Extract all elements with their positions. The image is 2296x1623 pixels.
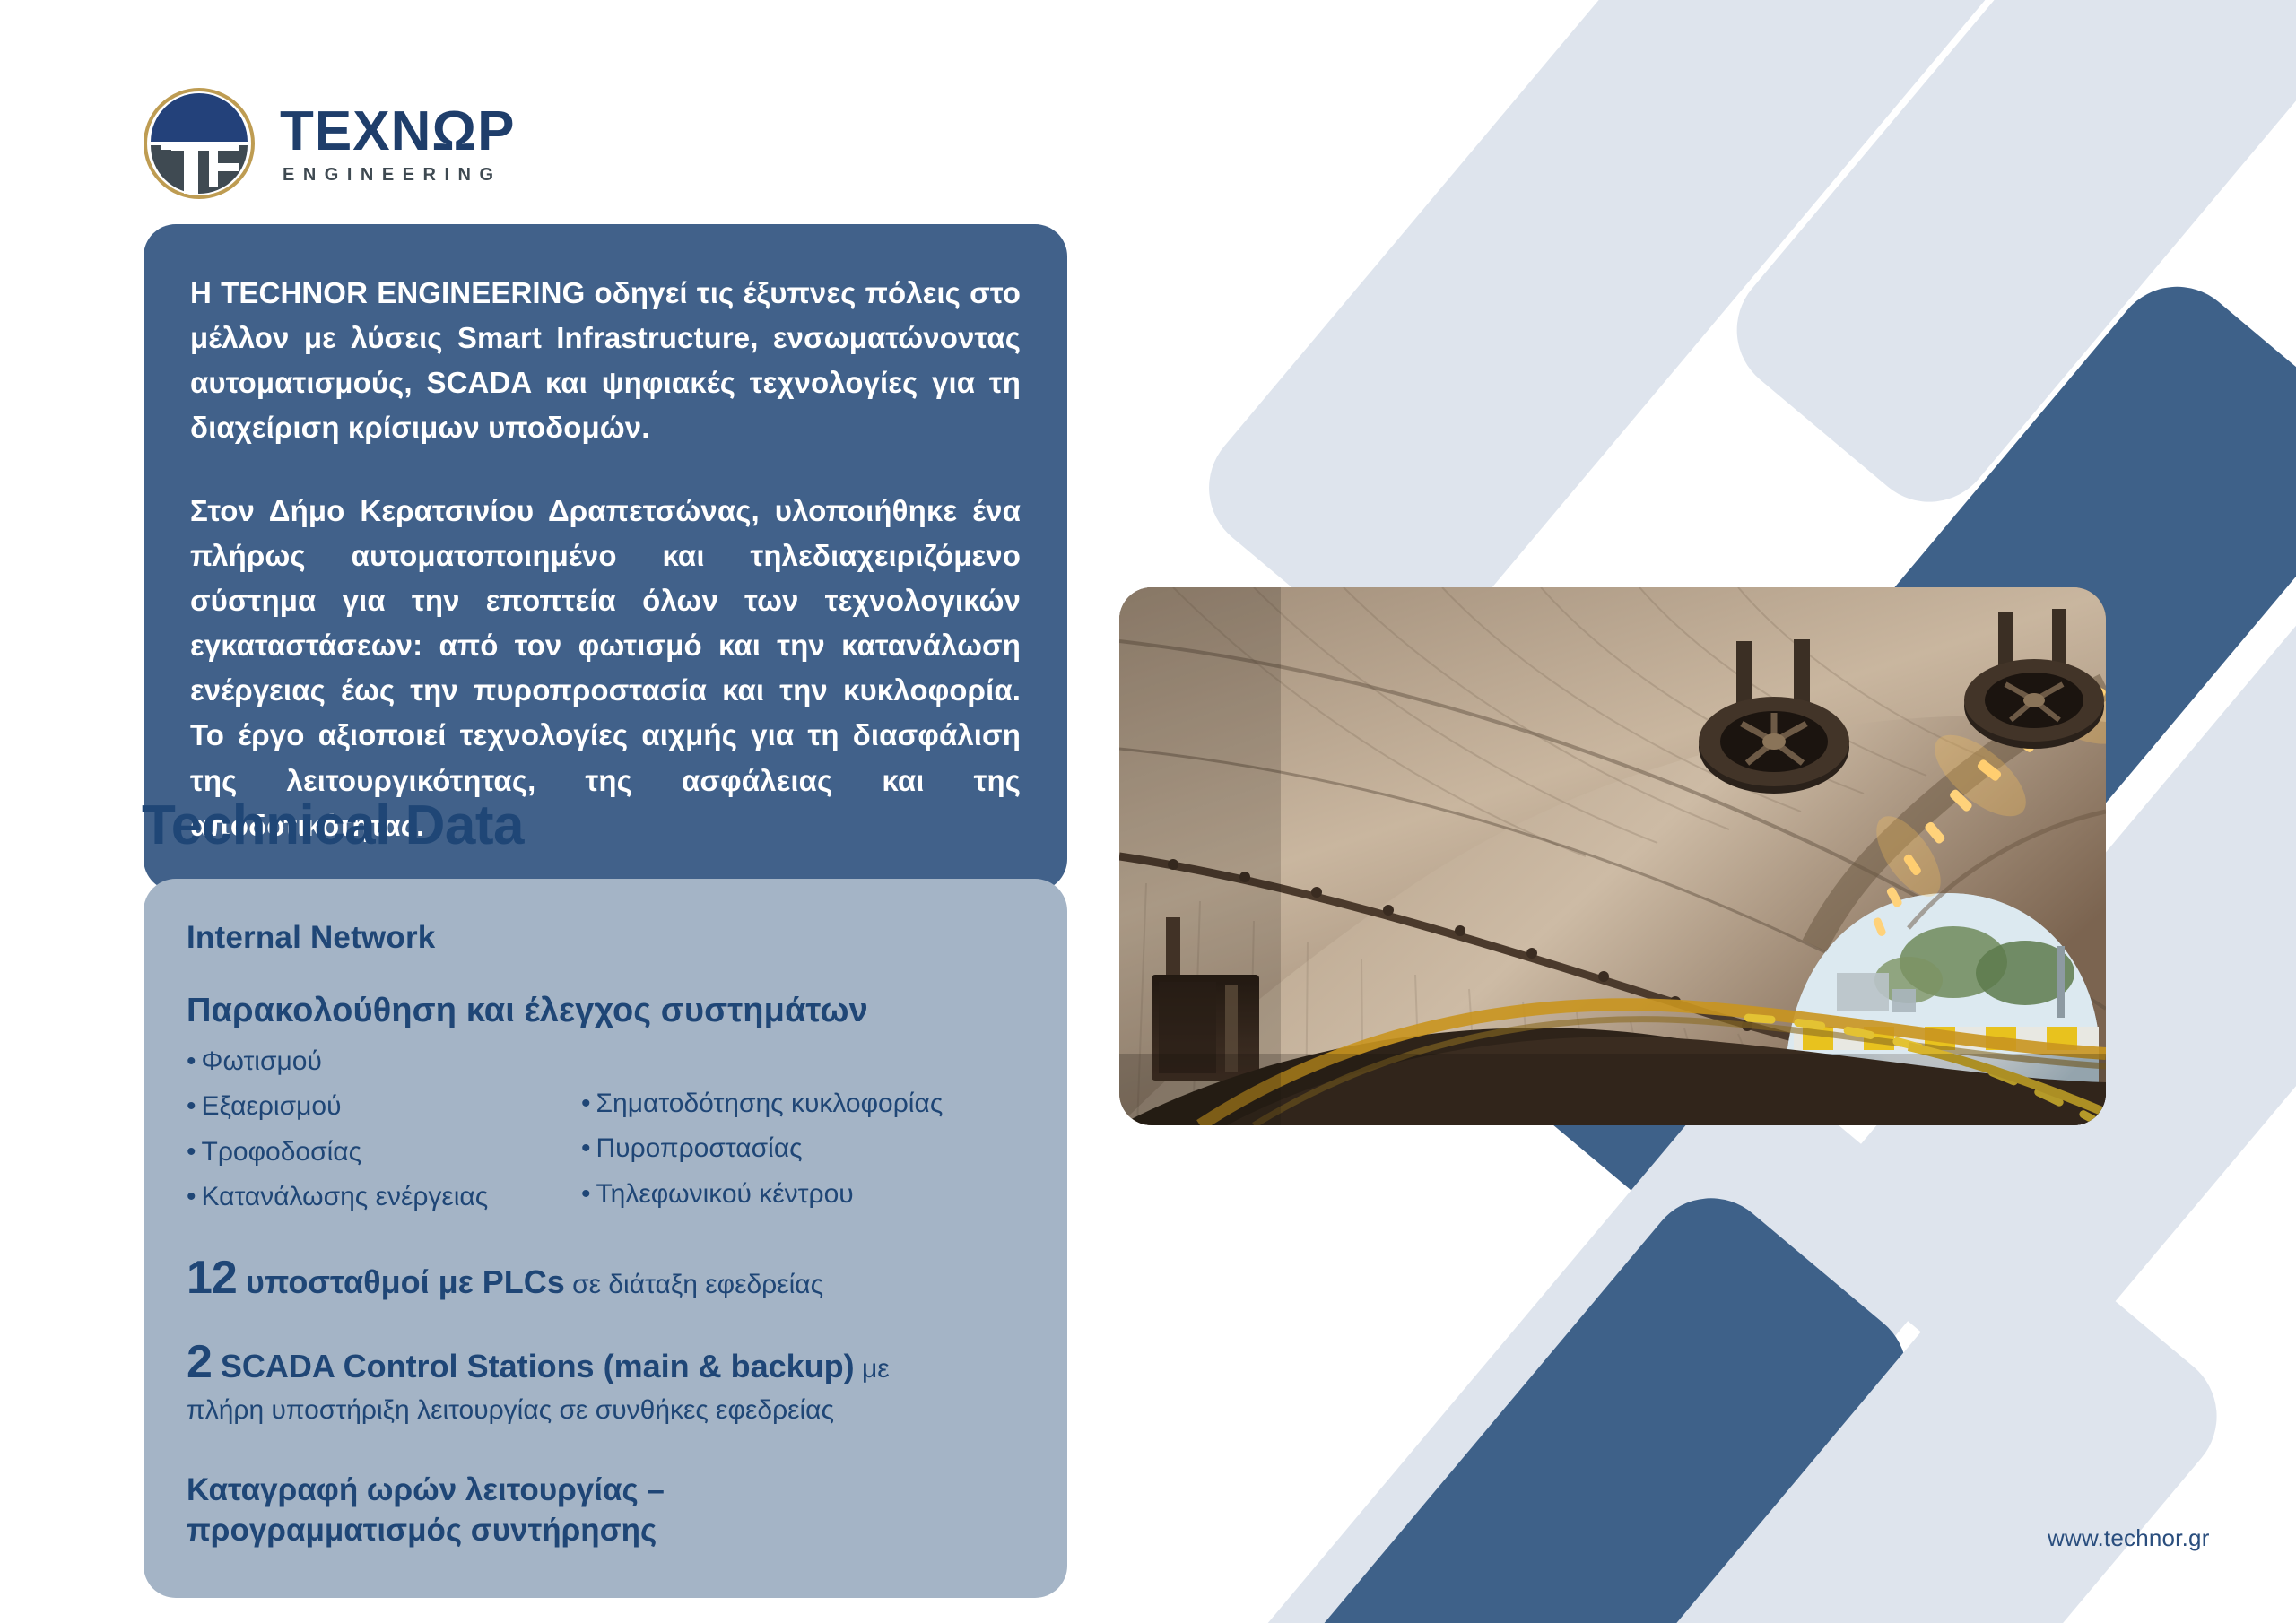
- monitoring-section-title: Παρακολούθηση και έλεγχος συστημάτων: [187, 992, 1024, 1030]
- decorative-ribbon-pale-top-left: [1183, 0, 2056, 686]
- stat-scada-bold: SCADA Control Stations (main & backup): [212, 1348, 855, 1384]
- list-item-label: Σηματοδότησης κυκλοφορίας: [596, 1084, 944, 1124]
- list-item: • Πυροπροστασίας: [581, 1126, 1024, 1171]
- bullet-dot-icon: •: [187, 1177, 196, 1217]
- list-item-label: Φωτισμού: [202, 1042, 322, 1081]
- stat-scada-number: 2: [187, 1336, 212, 1388]
- list-item: • Κατανάλωσης ενέργειας: [187, 1175, 581, 1219]
- intro-paragraph-1: Η TECHNOR ENGINEERING οδηγεί τις έξυπνες…: [190, 271, 1021, 451]
- technical-data-card: Internal Network Παρακολούθηση και έλεγχ…: [143, 879, 1067, 1598]
- intro-card: Η TECHNOR ENGINEERING οδηγεί τις έξυπνες…: [143, 224, 1067, 891]
- decorative-ribbon-blue-lower: [1040, 1172, 1934, 1623]
- list-item: • Σηματοδότησης κυκλοφορίας: [581, 1081, 1024, 1126]
- logo-company-name: ΤΕΧΝΩΡ: [280, 105, 515, 159]
- list-item-label: Πυροπροστασίας: [596, 1129, 803, 1168]
- list-item-label: Εξαερισμού: [202, 1087, 342, 1126]
- tunnel-photo: [1119, 587, 2106, 1125]
- bullet-column-right: • Σηματοδότησης κυκλοφορίας • Πυροπροστα…: [581, 1039, 1024, 1220]
- website-url[interactable]: www.technor.gr: [2048, 1524, 2210, 1552]
- list-item: • Εξαερισμού: [187, 1084, 581, 1129]
- stat-scada-tail: πλήρη υποστήριξη λειτουργίας σε συνθήκες…: [187, 1391, 1024, 1430]
- list-item: • Φωτισμού: [187, 1039, 581, 1084]
- internal-network-subtitle: Internal Network: [187, 920, 1024, 956]
- stat-substations-bold: υποσταθμοί με PLCs: [237, 1263, 565, 1300]
- bullet-dot-icon: •: [187, 1042, 196, 1081]
- bullet-dot-icon: •: [187, 1133, 196, 1172]
- list-item-label: Τροφοδοσίας: [202, 1133, 362, 1172]
- systems-bullet-grid: • Φωτισμού • Εξαερισμού • Τροφοδοσίας • …: [187, 1039, 1024, 1220]
- bullet-dot-icon: •: [581, 1129, 591, 1168]
- stat-scada-light: με: [855, 1354, 890, 1384]
- list-item-label: Τηλεφωνικού κέντρου: [596, 1175, 854, 1214]
- logo-emblem-icon: [142, 86, 257, 201]
- maintenance-note-line-2: προγραμματισμός συντήρησης: [187, 1511, 1024, 1551]
- decorative-ribbon-pale-top-right: [1710, 0, 2296, 528]
- list-item: • Τροφοδοσίας: [187, 1130, 581, 1175]
- stat-substations: 12 υποσταθμοί με PLCs σε διάταξη εφεδρεί…: [187, 1251, 1024, 1305]
- stat-scada-stations: 2 SCADA Control Stations (main & backup)…: [187, 1335, 1024, 1430]
- bullet-dot-icon: •: [581, 1175, 591, 1214]
- logo-wordmark: ΤΕΧΝΩΡ ENGINEERING: [280, 101, 515, 186]
- bullet-column-spacer: [581, 1039, 1024, 1081]
- bullet-column-left: • Φωτισμού • Εξαερισμού • Τροφοδοσίας • …: [187, 1039, 581, 1220]
- list-item: • Τηλεφωνικού κέντρου: [581, 1172, 1024, 1217]
- bullet-dot-icon: •: [581, 1084, 591, 1124]
- tunnel-photo-illustration: [1119, 587, 2106, 1125]
- company-logo: ΤΕΧΝΩΡ ENGINEERING: [142, 86, 515, 201]
- brochure-page: ΤΕΧΝΩΡ ENGINEERING Η TECHNOR ENGINEERING…: [0, 0, 2296, 1623]
- logo-tagline: ENGINEERING: [283, 165, 515, 186]
- maintenance-note-line-1: Καταγραφή ωρών λειτουργίας –: [187, 1471, 1024, 1511]
- stat-substations-light: σε διάταξη εφεδρείας: [565, 1270, 823, 1299]
- decorative-ribbon-pale-bottom: [1353, 1218, 2243, 1623]
- maintenance-note: Καταγραφή ωρών λειτουργίας – προγραμματι…: [187, 1471, 1024, 1551]
- bullet-dot-icon: •: [187, 1087, 196, 1126]
- stat-substations-number: 12: [187, 1252, 237, 1304]
- technical-data-heading: Technical Data: [142, 794, 524, 857]
- list-item-label: Κατανάλωσης ενέργειας: [202, 1177, 489, 1217]
- decorative-ribbon-pale-lower-left: [1172, 1050, 1976, 1623]
